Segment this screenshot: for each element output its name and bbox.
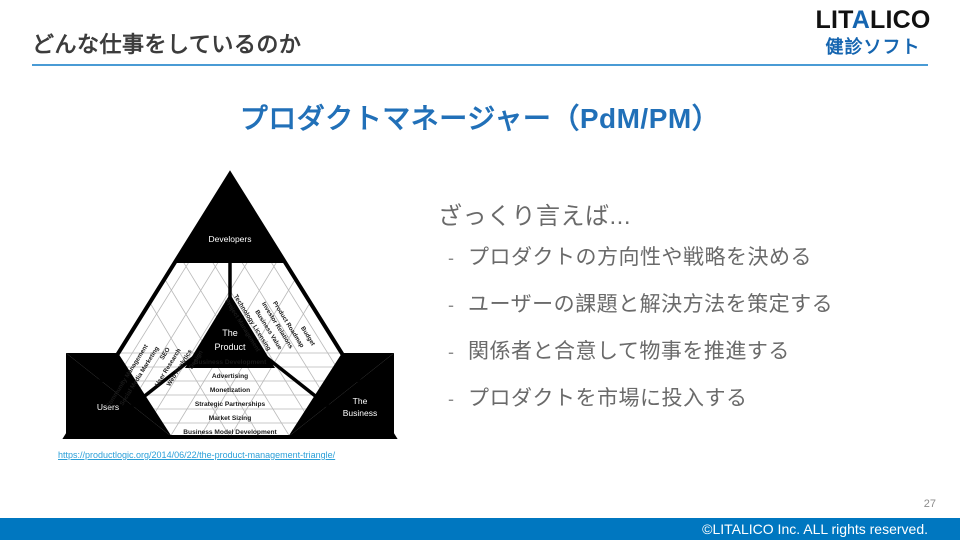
lead-in-text: ざっくり言えば... (438, 196, 938, 231)
bullet-marker: - (438, 248, 468, 269)
logo-word-part1: LIT (815, 6, 851, 34)
logo-accent-letter: A (852, 6, 870, 34)
page-number: 27 (924, 498, 936, 510)
list-item-label: プロダクトを市場に投入する (468, 382, 748, 412)
bottom-row-label-5: Business Model Development (183, 429, 277, 436)
source-url-link[interactable]: https://productlogic.org/2014/06/22/the-… (58, 450, 335, 460)
slide-canvas: どんな仕事をしているのか LITALICO 健診ソフト プロダクトマネージャー（… (0, 0, 960, 540)
bullet-marker: - (438, 389, 468, 410)
footer-copyright: ©LITALICO Inc. ALL rights reserved. (0, 521, 944, 537)
label-developers: Developers (209, 234, 252, 244)
content-column: ざっくり言えば... - プロダクトの方向性や戦略を決める - ユーザーの課題と… (438, 196, 938, 429)
bottom-row-label-2: Monetization (210, 387, 250, 394)
logo-wordmark: LITALICO (810, 8, 936, 33)
title-underline-rule (32, 64, 928, 66)
bottom-row-label-0: Business Development (194, 359, 267, 366)
product-management-triangle-diagram: Developers Users The Business The Produc… (60, 168, 400, 443)
slide-headline: プロダクトマネージャー（PdM/PM） (0, 97, 960, 137)
list-item-label: プロダクトの方向性や戦略を決める (468, 241, 812, 271)
label-product-line1: The (222, 328, 238, 338)
list-item-label: ユーザーの課題と解決方法を策定する (468, 288, 833, 318)
triangle-svg: Developers Users The Business The Produc… (60, 168, 400, 443)
list-item: - プロダクトを市場に投入する (438, 382, 938, 412)
list-item: - ユーザーの課題と解決方法を策定する (438, 288, 938, 318)
bullet-list: - プロダクトの方向性や戦略を決める - ユーザーの課題と解決方法を策定する -… (438, 241, 938, 412)
label-product-line2: Product (214, 342, 246, 352)
label-business-line2: Business (343, 408, 378, 418)
logo-word-part2: LICO (870, 6, 931, 34)
list-item-label: 関係者と合意して物事を推進する (468, 335, 790, 365)
list-item: - プロダクトの方向性や戦略を決める (438, 241, 938, 271)
bullet-marker: - (438, 342, 468, 363)
bullet-marker: - (438, 295, 468, 316)
bottom-row-label-3: Strategic Partnerships (195, 401, 266, 408)
bottom-row-label-4: Market Sizing (209, 415, 252, 422)
page-title: どんな仕事をしているのか (32, 27, 301, 59)
bottom-row-label-1: Advertising (212, 373, 248, 380)
logo-subtitle: 健診ソフト (810, 38, 936, 56)
litalico-logo: LITALICO 健診ソフト (810, 8, 936, 56)
label-business-line1: The (353, 396, 368, 406)
list-item: - 関係者と合意して物事を推進する (438, 335, 938, 365)
